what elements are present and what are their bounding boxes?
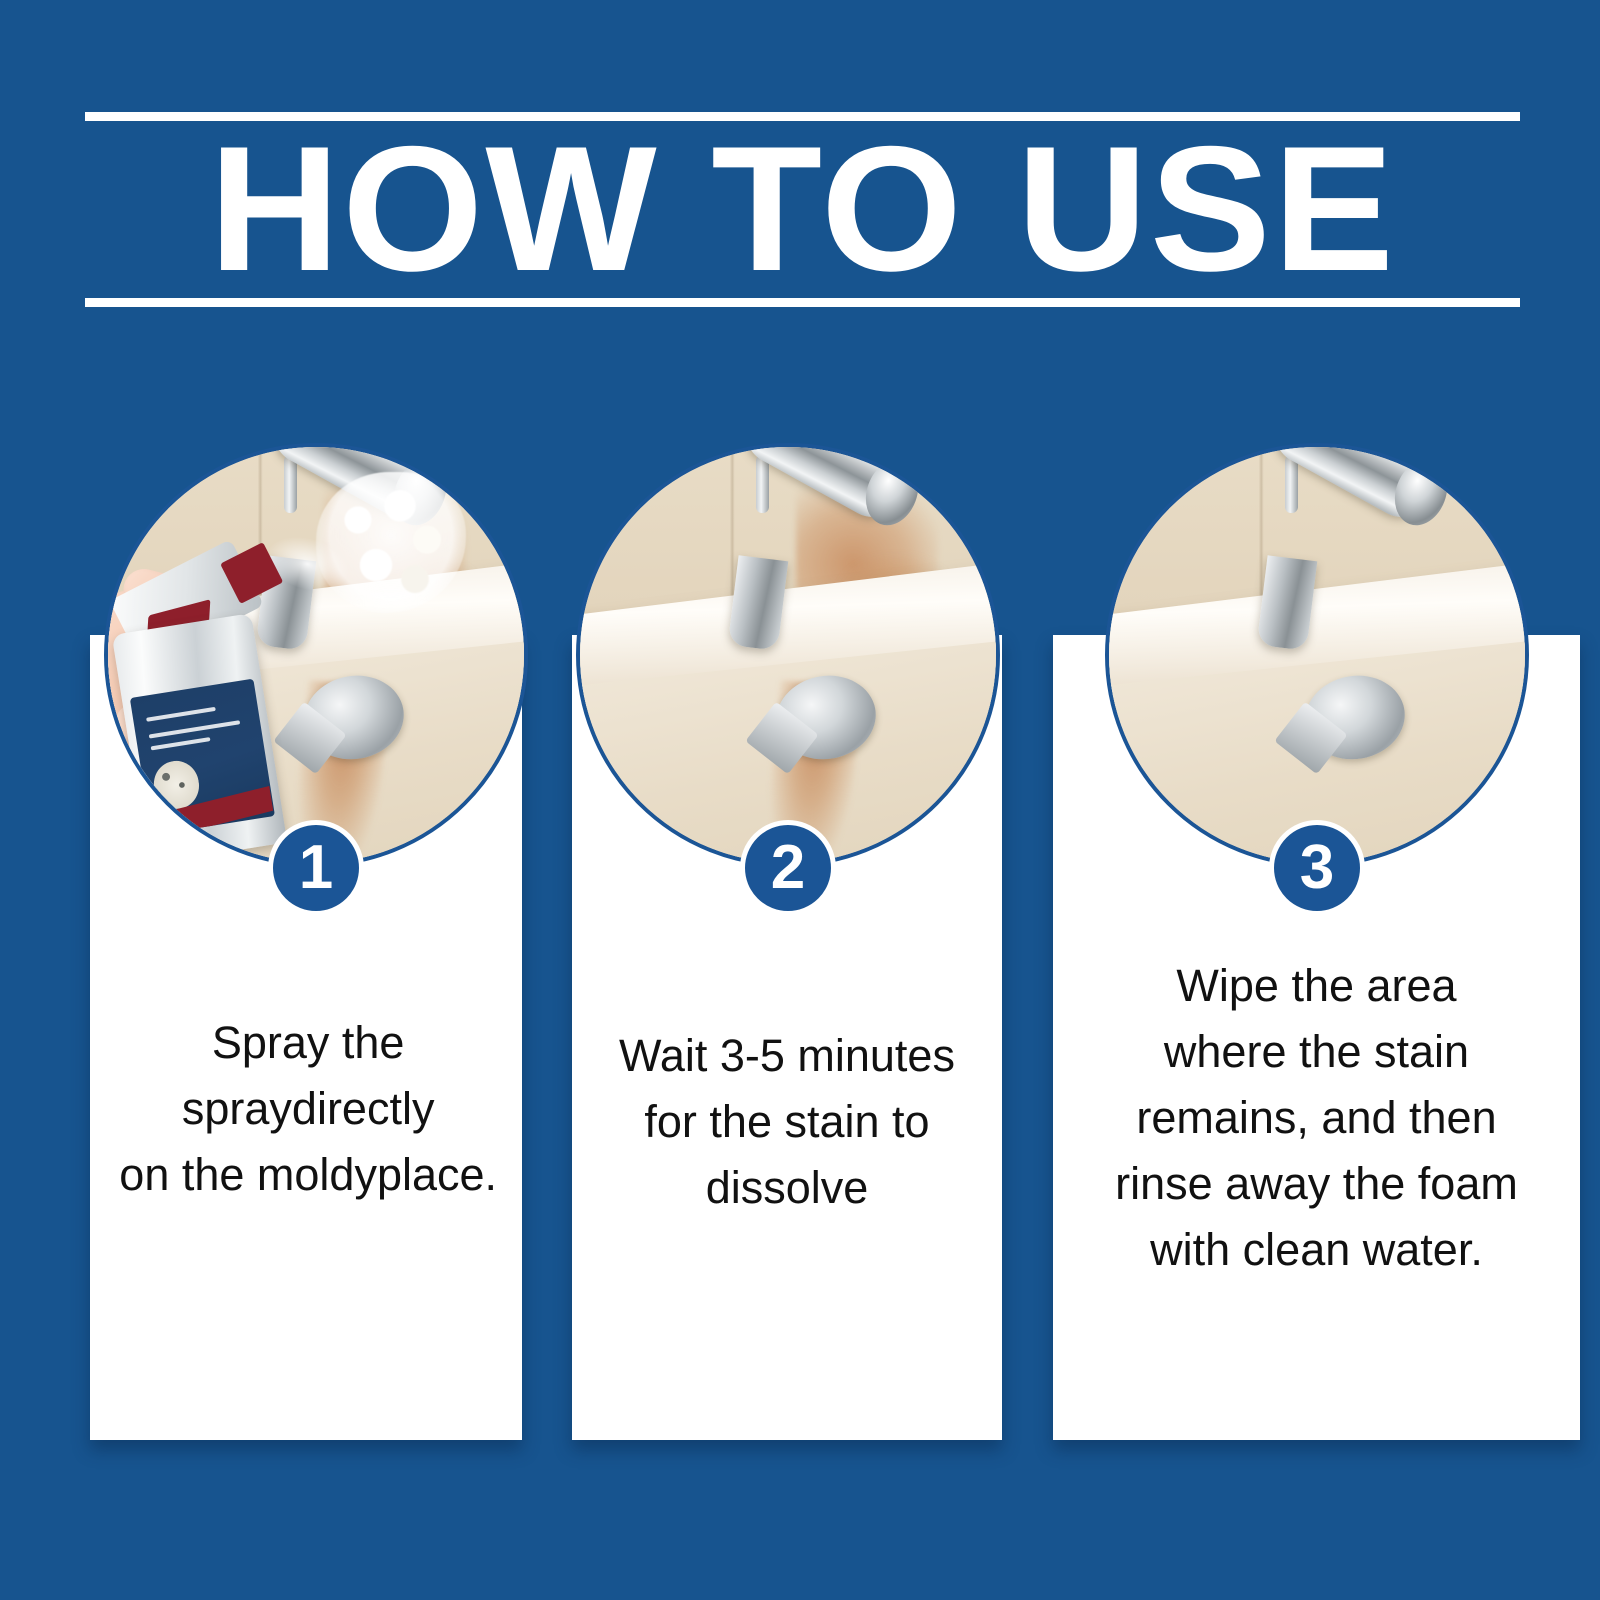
step-number-badge-1: 1 bbox=[268, 820, 364, 916]
photo-stained-spout bbox=[580, 447, 996, 863]
bottle-label bbox=[130, 678, 275, 835]
photo-spraying-foam bbox=[108, 447, 524, 863]
step-caption-1: Spray the spraydirectly on the moldyplac… bbox=[60, 1010, 557, 1208]
step-number-badge-2: 2 bbox=[740, 820, 836, 916]
spout-nose-2 bbox=[728, 556, 788, 651]
step-photo-3 bbox=[1105, 443, 1529, 867]
faucet-spout-2 bbox=[721, 459, 912, 684]
spout-pin-3 bbox=[1285, 455, 1298, 513]
step-card-1: 1 Spray the spraydirectly on the moldypl… bbox=[90, 635, 522, 1440]
step-photo-2 bbox=[576, 443, 1000, 867]
spout-nose-3 bbox=[1257, 556, 1317, 651]
steps-container: 1 Spray the spraydirectly on the moldypl… bbox=[0, 0, 1600, 1600]
step-number-badge-3: 3 bbox=[1269, 820, 1365, 916]
step-caption-3: Wipe the area where the stain remains, a… bbox=[1027, 953, 1600, 1283]
step-caption-2: Wait 3-5 minutes for the stain to dissol… bbox=[546, 1023, 1028, 1221]
label-brand-text bbox=[146, 707, 215, 722]
photo-clean-spout bbox=[1109, 447, 1525, 863]
faucet-spout-3 bbox=[1250, 459, 1441, 684]
step-card-2: 2 Wait 3-5 minutes for the stain to diss… bbox=[572, 635, 1002, 1440]
label-product-line-2 bbox=[150, 737, 210, 750]
step-photo-1 bbox=[104, 443, 528, 867]
label-product-line-1 bbox=[148, 720, 240, 738]
spout-pin-2 bbox=[756, 455, 769, 513]
step-card-3: 3 Wipe the area where the stain remains,… bbox=[1053, 635, 1580, 1440]
spout-pin-1 bbox=[284, 455, 297, 513]
